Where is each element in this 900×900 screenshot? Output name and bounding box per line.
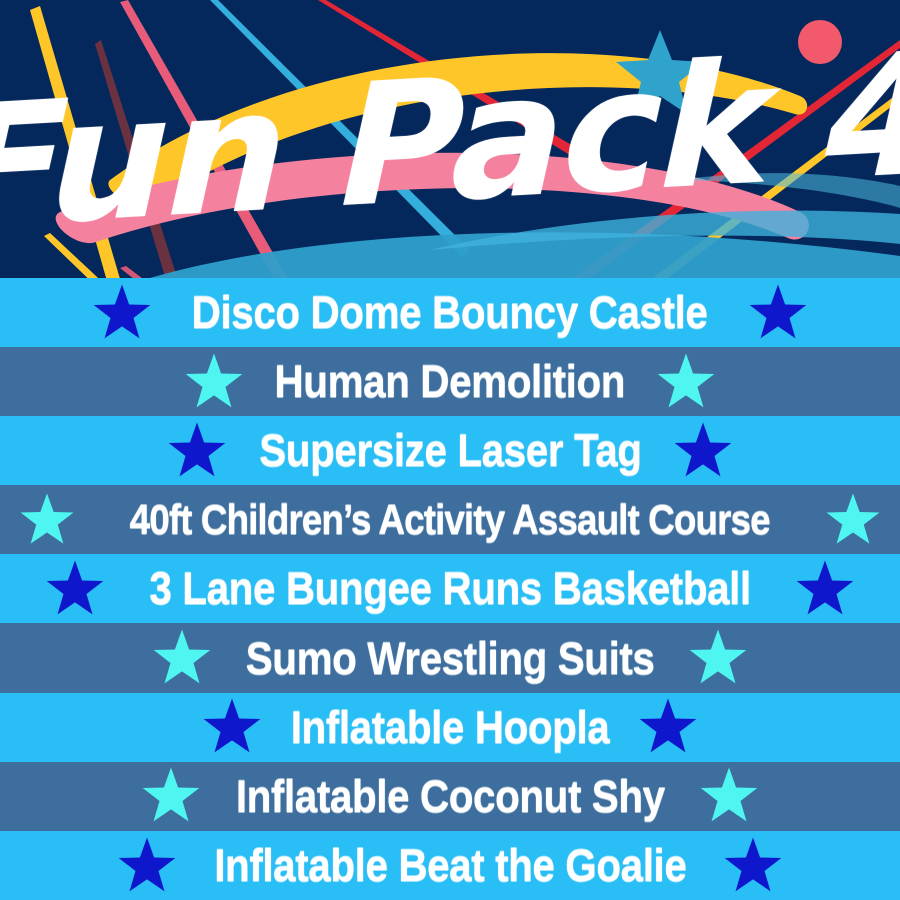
rows-container: Disco Dome Bouncy CastleHuman Demolition… <box>0 278 900 900</box>
activity-label: Inflatable Hoopla <box>291 705 610 750</box>
star-aqua-icon-right <box>687 627 749 689</box>
activity-label: Supersize Laser Tag <box>259 428 641 473</box>
star-blue-icon-right <box>672 420 734 482</box>
activity-row[interactable]: 40ft Children’s Activity Assault Course <box>0 485 900 554</box>
star-blue-icon-left <box>44 558 106 620</box>
star-blue-icon-right <box>637 696 699 758</box>
activity-row[interactable]: 3 Lane Bungee Runs Basketball <box>0 554 900 623</box>
poster-title: Fun Pack 4 <box>0 29 900 253</box>
star-aqua-icon-left <box>140 765 202 827</box>
activity-label: Human Demolition <box>275 359 626 404</box>
star-blue-icon-right <box>747 282 809 344</box>
star-blue-icon-right <box>722 835 784 897</box>
activity-label: 40ft Children’s Activity Assault Course <box>130 499 770 541</box>
activity-label: Inflatable Coconut Shy <box>236 774 665 819</box>
activity-row[interactable]: Inflatable Coconut Shy <box>0 762 900 831</box>
row-inner: Inflatable Beat the Goalie <box>0 835 900 897</box>
row-inner: Sumo Wrestling Suits <box>0 627 900 689</box>
activity-row[interactable]: Sumo Wrestling Suits <box>0 623 900 692</box>
activity-label: Inflatable Beat the Goalie <box>214 843 686 888</box>
row-inner: 40ft Children’s Activity Assault Course <box>0 491 900 549</box>
star-aqua-icon-right <box>655 351 717 413</box>
poster-header: Fun Pack 4 <box>0 0 900 278</box>
star-blue-icon-left <box>201 696 263 758</box>
star-aqua-icon-left <box>183 351 245 413</box>
activity-label: Disco Dome Bouncy Castle <box>192 290 708 335</box>
activity-list: Disco Dome Bouncy CastleHuman Demolition… <box>0 278 900 900</box>
star-blue-icon-left <box>91 282 153 344</box>
activity-label: 3 Lane Bungee Runs Basketball <box>149 566 750 611</box>
activity-row[interactable]: Human Demolition <box>0 347 900 416</box>
row-inner: Human Demolition <box>0 351 900 413</box>
row-inner: Supersize Laser Tag <box>0 420 900 482</box>
activity-row[interactable]: Inflatable Hoopla <box>0 693 900 762</box>
title-wrap: Fun Pack 4 <box>0 0 900 278</box>
star-blue-icon-left <box>116 835 178 897</box>
star-aqua-icon-left <box>151 627 213 689</box>
star-blue-icon-left <box>166 420 228 482</box>
row-inner: Inflatable Coconut Shy <box>0 765 900 827</box>
activity-label: Sumo Wrestling Suits <box>246 636 655 681</box>
activity-row[interactable]: Supersize Laser Tag <box>0 416 900 485</box>
star-aqua-icon-right <box>698 765 760 827</box>
row-inner: Disco Dome Bouncy Castle <box>0 282 900 344</box>
star-aqua-icon-right <box>824 491 882 549</box>
row-inner: Inflatable Hoopla <box>0 696 900 758</box>
activity-row[interactable]: Inflatable Beat the Goalie <box>0 831 900 900</box>
star-aqua-icon-left <box>18 491 76 549</box>
poster: Fun Pack 4 Disco Dome Bouncy CastleHuman… <box>0 0 900 900</box>
row-inner: 3 Lane Bungee Runs Basketball <box>0 558 900 620</box>
star-blue-icon-right <box>794 558 856 620</box>
activity-row[interactable]: Disco Dome Bouncy Castle <box>0 278 900 347</box>
